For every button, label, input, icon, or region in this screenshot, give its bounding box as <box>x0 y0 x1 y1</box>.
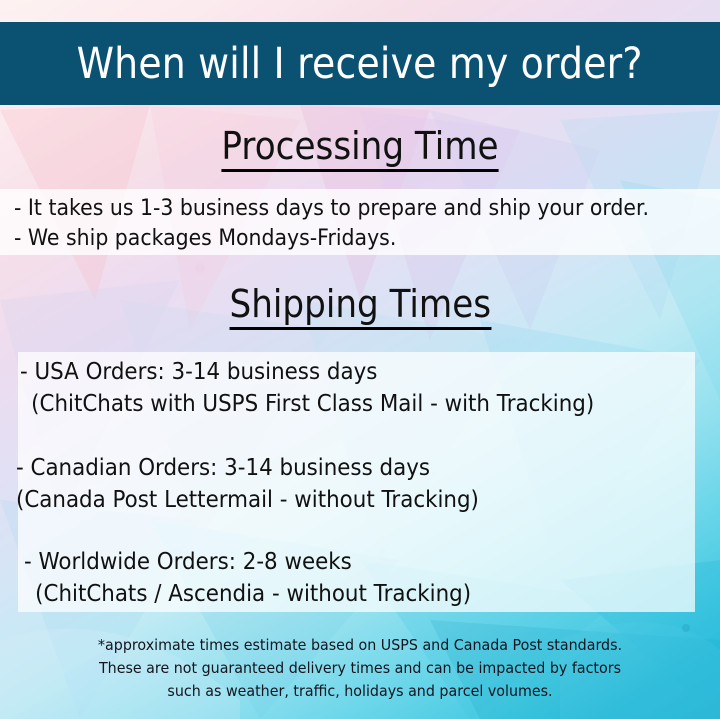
header-banner: When will I receive my order? <box>0 22 720 105</box>
processing-line-1: - It takes us 1-3 business days to prepa… <box>14 196 649 221</box>
processing-time-heading-text: Processing Time <box>221 124 498 172</box>
shipping-canada-title: - Canadian Orders: 3-14 business days <box>16 452 479 484</box>
shipping-canada-detail: (Canada Post Lettermail - without Tracki… <box>16 484 479 516</box>
footnote-line-1: *approximate times estimate based on USP… <box>18 634 702 657</box>
shipping-info-poster: When will I receive my order? Processing… <box>0 0 720 719</box>
shipping-block-usa: - USA Orders: 3-14 business days (ChitCh… <box>20 356 637 420</box>
shipping-times-heading: Shipping Times <box>0 282 720 330</box>
page-title: When will I receive my order? <box>77 39 643 89</box>
shipping-worldwide-title: - Worldwide Orders: 2-8 weeks <box>24 546 471 578</box>
footnote-line-3: such as weather, traffic, holidays and p… <box>18 680 702 703</box>
shipping-times-heading-text: Shipping Times <box>229 282 491 330</box>
shipping-block-worldwide: - Worldwide Orders: 2-8 weeks (ChitChats… <box>24 546 505 610</box>
processing-time-heading: Processing Time <box>0 124 720 172</box>
shipping-block-canada: - Canadian Orders: 3-14 business days (C… <box>16 452 514 516</box>
shipping-usa-title: - USA Orders: 3-14 business days <box>20 356 594 388</box>
processing-line-2: - We ship packages Mondays-Fridays. <box>14 226 396 251</box>
shipping-usa-detail: (ChitChats with USPS First Class Mail - … <box>20 388 594 420</box>
shipping-worldwide-detail: (ChitChats / Ascendia - without Tracking… <box>24 578 471 610</box>
footnote: *approximate times estimate based on USP… <box>0 634 720 703</box>
footnote-line-2: These are not guaranteed delivery times … <box>18 657 702 680</box>
